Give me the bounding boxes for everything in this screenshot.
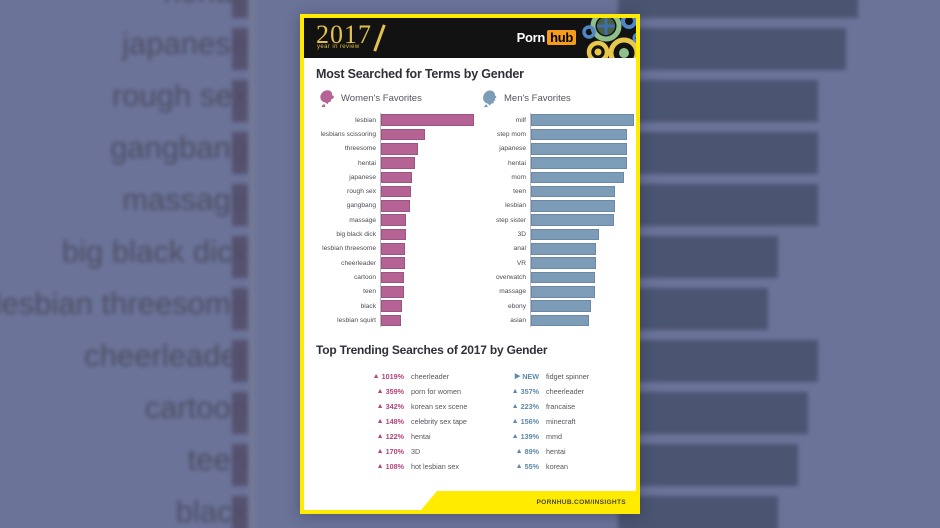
trending-term: fidget spinner — [546, 372, 589, 381]
background-bar-right — [618, 184, 818, 226]
trending-change: ▲170% — [356, 447, 404, 456]
up-triangle-icon: ▲ — [377, 418, 384, 425]
chart-bar-track — [531, 243, 634, 255]
chart-bar-label: gangbang — [318, 202, 380, 209]
chart-bar-label: lesbians scissoring — [318, 131, 380, 138]
chart-bar-label: anal — [484, 245, 530, 252]
chart-bar-track — [531, 257, 634, 269]
chart-bar-track — [381, 214, 474, 226]
chart-bar-label: japanese — [484, 145, 530, 152]
background-bar-label: cheerleader — [84, 338, 248, 374]
up-triangle-icon: ▲ — [512, 418, 519, 425]
background-bar-right — [618, 288, 768, 330]
trending-term: cheerleader — [411, 372, 449, 381]
chart-bar — [531, 272, 595, 284]
chart-bar — [381, 229, 406, 241]
chart-bar — [531, 257, 596, 269]
background-bar-label: gangbang — [110, 130, 248, 166]
chart-bar-label: rough sex — [318, 188, 380, 195]
trending-change-value: 342% — [386, 402, 404, 411]
chart-bar-label: lesbian squirt — [318, 317, 380, 324]
chart-bar-track — [381, 286, 474, 298]
background-bar-left — [232, 392, 248, 434]
legend-item-women: Women's Favorites — [318, 89, 481, 108]
woman-head-icon — [318, 89, 335, 108]
trending-term: celebrity sex tape — [411, 417, 467, 426]
chart-bar-track — [381, 272, 474, 284]
trending-term: 3D — [411, 447, 420, 456]
chart-bar-label: ebony — [484, 303, 530, 310]
background-bar-right — [618, 236, 778, 278]
chart-bar — [381, 315, 401, 327]
chart-bar — [531, 214, 614, 226]
up-triangle-icon: ▲ — [516, 463, 523, 470]
chart-bar-label: milf — [484, 117, 530, 124]
chart-bar-track — [531, 143, 634, 155]
background-bar-right — [618, 28, 846, 70]
chart-bar-row: milf — [484, 113, 634, 127]
background-bar-right — [618, 132, 818, 174]
chart-bar-row: rough sex — [318, 184, 474, 198]
chart-mens-favorites: milfstep momjapanesehentaimomteenlesbian… — [484, 113, 634, 327]
chart-bar-row: lesbians scissoring — [318, 127, 474, 141]
trending-change: ▲1019% — [356, 372, 404, 381]
trending-section-title: Top Trending Searches of 2017 by Gender — [316, 343, 636, 357]
chart-bar-label: lesbian threesome — [318, 245, 380, 252]
chart-bar-label: mom — [484, 174, 530, 181]
chart-bar-label: teen — [484, 188, 530, 195]
background-bar-left — [232, 80, 248, 122]
up-triangle-icon: ▲ — [377, 403, 384, 410]
chart-bar-label: japanese — [318, 174, 380, 181]
chart-bar — [531, 315, 589, 327]
background-bar-left — [232, 184, 248, 226]
chart-bar-track — [381, 200, 474, 212]
chart-bar-label: asian — [484, 317, 530, 324]
chart-bar-row: step sister — [484, 213, 634, 227]
trending-row: ▲148%celebrity sex tape — [356, 414, 491, 429]
chart-bar-row: threesome — [318, 142, 474, 156]
trending-change-value: NEW — [522, 372, 539, 381]
infographic-card: 2017 year in review Porn hub Most Search… — [300, 14, 640, 514]
trending-row: ▲139%mmd — [491, 429, 626, 444]
trending-change-value: 108% — [386, 462, 404, 471]
chart-womens-favorites: lesbianlesbians scissoringthreesomehenta… — [318, 113, 474, 327]
up-triangle-icon: ▲ — [512, 433, 519, 440]
chart-bar-label: VR — [484, 260, 530, 267]
trending-change-value: 1019% — [382, 372, 404, 381]
background-bar-right — [618, 444, 798, 486]
chart-bar-row: VR — [484, 256, 634, 270]
chart-bar — [381, 214, 406, 226]
trending-change-value: 357% — [521, 387, 539, 396]
chart-bar-track — [381, 229, 474, 241]
background-bar-right — [618, 340, 818, 382]
trending-change-value: 223% — [521, 402, 539, 411]
chart-section-title: Most Searched for Terms by Gender — [316, 67, 636, 81]
trending-row: ▲342%korean sex scene — [356, 399, 491, 414]
up-triangle-icon: ▲ — [377, 388, 384, 395]
chart-bar-row: lesbian — [318, 113, 474, 127]
chart-bar-label: hentai — [318, 160, 380, 167]
up-triangle-icon: ▲ — [373, 373, 380, 380]
trending-term: hentai — [411, 432, 431, 441]
trending-change: ▲108% — [356, 462, 404, 471]
chart-bar — [531, 114, 634, 126]
chart-bar-track — [381, 243, 474, 255]
chart-bar-label: step sister — [484, 217, 530, 224]
brand-word-porn: Porn — [517, 30, 545, 45]
man-head-icon — [481, 89, 498, 108]
trending-term: minecraft — [546, 417, 576, 426]
background-bar-label: rough sex — [112, 78, 248, 114]
chart-bar-track — [381, 143, 474, 155]
chart-bar — [531, 157, 627, 169]
pornhub-logo: Porn hub — [517, 30, 576, 45]
background-bar-left — [232, 496, 248, 528]
chart-bar-label: overwatch — [484, 274, 530, 281]
background-bar-left — [232, 340, 248, 382]
trending-row: ▲359%porn for women — [356, 384, 491, 399]
chart-bar-row: lesbian squirt — [318, 313, 474, 327]
trending-change-value: 156% — [521, 417, 539, 426]
trending-term: hot lesbian sex — [411, 462, 459, 471]
chart-bar-track — [531, 157, 634, 169]
chart-bar — [531, 172, 624, 184]
chart-bar — [381, 300, 402, 312]
trending-row: ▶NEWfidget spinner — [491, 369, 626, 384]
trending-row: ▲1019%cheerleader — [356, 369, 491, 384]
background-bar-left — [232, 288, 248, 330]
trending-change: ▲342% — [356, 402, 404, 411]
chart-bar-track — [381, 300, 474, 312]
trending-row: ▲170%3D — [356, 444, 491, 459]
chart-bar-row: gangbang — [318, 199, 474, 213]
chart-bar — [381, 157, 415, 169]
background-bar-right — [618, 0, 858, 18]
card-header: 2017 year in review Porn hub — [304, 18, 636, 58]
logo-slash-decoration — [373, 24, 385, 51]
chart-bar — [531, 129, 627, 141]
trending-term: cheerleader — [546, 387, 584, 396]
chart-bar-track — [531, 200, 634, 212]
chart-bar — [381, 186, 411, 198]
trending-list-men: ▶NEWfidget spinner▲357%cheerleader▲223%f… — [491, 369, 626, 474]
chart-bar — [531, 143, 627, 155]
background-bar-left — [232, 0, 248, 18]
trending-change-value: 359% — [386, 387, 404, 396]
card-footer: PORNHUB.COM/INSIGHTS — [304, 490, 636, 510]
chart-bar — [531, 300, 591, 312]
chart-bar — [531, 186, 615, 198]
chart-bar — [531, 243, 596, 255]
background-bar-label: japanese — [122, 26, 248, 62]
trending-row: ▲223%francaise — [491, 399, 626, 414]
chart-bar-row: lesbian threesome — [318, 242, 474, 256]
chart-bar-row: teen — [484, 184, 634, 198]
chart-bar — [381, 129, 425, 141]
chart-bar-track — [531, 114, 634, 126]
trending-change: ▲55% — [491, 462, 539, 471]
chart-bar — [381, 272, 404, 284]
chart-bar — [381, 243, 405, 255]
background-bar-left — [232, 236, 248, 278]
trending-change: ▲122% — [356, 432, 404, 441]
chart-bar-row: big black dick — [318, 227, 474, 241]
trending-change: ▲89% — [491, 447, 539, 456]
chart-bar-row: 3D — [484, 227, 634, 241]
chart-bar — [381, 114, 474, 126]
chart-bar-track — [531, 214, 634, 226]
chart-bar-row: teen — [318, 285, 474, 299]
footer-url: PORNHUB.COM/INSIGHTS — [536, 499, 626, 506]
trending-list-women: ▲1019%cheerleader▲359%porn for women▲342… — [356, 369, 491, 474]
chart-bar-row: cheerleader — [318, 256, 474, 270]
up-triangle-icon: ▲ — [516, 448, 523, 455]
chart-bar-label: massage — [484, 288, 530, 295]
chart-bar-track — [381, 157, 474, 169]
chart-bar-label: lesbian — [318, 117, 380, 124]
chart-bar — [381, 172, 412, 184]
trending-change: ▲156% — [491, 417, 539, 426]
trending-change: ▲359% — [356, 387, 404, 396]
chart-bar — [381, 257, 405, 269]
chart-bar — [531, 200, 615, 212]
trending-change-value: 89% — [525, 447, 539, 456]
chart-bar-row: massage — [318, 213, 474, 227]
chart-bar — [531, 229, 599, 241]
trending-term: korean sex scene — [411, 402, 467, 411]
trending-change-value: 139% — [521, 432, 539, 441]
chart-bar-label: 3D — [484, 231, 530, 238]
chart-bar-label: cartoon — [318, 274, 380, 281]
chart-bar-row: hentai — [318, 156, 474, 170]
trending-change-value: 170% — [386, 447, 404, 456]
chart-bar-track — [531, 300, 634, 312]
trending-term: mmd — [546, 432, 562, 441]
background-bar-left — [232, 132, 248, 174]
chart-bar-row: mom — [484, 170, 634, 184]
decorative-circles — [572, 18, 636, 58]
trending-row: ▲55%korean — [491, 459, 626, 474]
trending-change: ▲357% — [491, 387, 539, 396]
trending-row: ▲156%minecraft — [491, 414, 626, 429]
background-bar-left — [232, 28, 248, 70]
chart-bar-label: threesome — [318, 145, 380, 152]
legend-item-men: Men's Favorites — [481, 89, 571, 108]
chart-bar-track — [381, 114, 474, 126]
up-triangle-icon: ▲ — [512, 403, 519, 410]
chart-bar-track — [531, 272, 634, 284]
chart-bar — [381, 286, 404, 298]
chart-bar-track — [531, 172, 634, 184]
trending-row: ▲108%hot lesbian sex — [356, 459, 491, 474]
chart-bar-track — [381, 186, 474, 198]
charts-container: lesbianlesbians scissoringthreesomehenta… — [304, 113, 636, 341]
chart-bar-row: lesbian — [484, 199, 634, 213]
chart-bar — [381, 200, 410, 212]
chart-bar-row: overwatch — [484, 270, 634, 284]
year-in-review-label: year in review — [317, 44, 360, 50]
background-bar-right — [618, 392, 808, 434]
chart-bar-label: teen — [318, 288, 380, 295]
chart-bar-label: step mom — [484, 131, 530, 138]
chart-bar-label: black — [318, 303, 380, 310]
chart-bar-label: lesbian — [484, 202, 530, 209]
play-arrow-icon: ▶ — [515, 373, 520, 380]
chart-bar — [381, 143, 418, 155]
background-bar-left — [232, 444, 248, 486]
chart-bar-label: massage — [318, 217, 380, 224]
up-triangle-icon: ▲ — [512, 388, 519, 395]
background-bar-right — [618, 496, 778, 528]
background-bar-label: massage — [122, 182, 248, 218]
chart-bar-row: hentai — [484, 156, 634, 170]
chart-bar-label: big black dick — [318, 231, 380, 238]
chart-bar-track — [531, 129, 634, 141]
trending-change: ▲223% — [491, 402, 539, 411]
background-bar-right — [618, 80, 818, 122]
trending-row: ▲122%hentai — [356, 429, 491, 444]
trending-term: hentai — [546, 447, 566, 456]
chart-bar-row: cartoon — [318, 270, 474, 284]
trending-row: ▲89%hentai — [491, 444, 626, 459]
chart-bar-row: ebony — [484, 299, 634, 313]
chart-bar — [531, 286, 595, 298]
chart-bar-label: hentai — [484, 160, 530, 167]
chart-bar-track — [381, 315, 474, 327]
chart-bar-row: anal — [484, 242, 634, 256]
chart-bar-row: asian — [484, 313, 634, 327]
trending-term: francaise — [546, 402, 575, 411]
trending-term: korean — [546, 462, 568, 471]
trending-change-value: 122% — [386, 432, 404, 441]
chart-bar-row: japanese — [484, 142, 634, 156]
trending-change-value: 55% — [525, 462, 539, 471]
chart-bar-track — [531, 286, 634, 298]
legend-label-men: Men's Favorites — [504, 93, 571, 104]
trending-change: ▶NEW — [491, 372, 539, 381]
trending-change-value: 148% — [386, 417, 404, 426]
up-triangle-icon: ▲ — [377, 448, 384, 455]
up-triangle-icon: ▲ — [377, 433, 384, 440]
chart-bar-track — [381, 257, 474, 269]
chart-bar-track — [531, 229, 634, 241]
chart-bar-row: japanese — [318, 170, 474, 184]
chart-bar-label: cheerleader — [318, 260, 380, 267]
chart-bar-row: black — [318, 299, 474, 313]
background-bar-label: lesbian threesome — [0, 286, 248, 322]
gender-legend: Women's Favorites Men's Favorites — [318, 89, 636, 108]
legend-label-women: Women's Favorites — [341, 93, 422, 104]
up-triangle-icon: ▲ — [377, 463, 384, 470]
chart-bar-track — [531, 186, 634, 198]
trending-columns: ▲1019%cheerleader▲359%porn for women▲342… — [356, 369, 636, 474]
trending-change: ▲139% — [491, 432, 539, 441]
chart-bar-row: step mom — [484, 127, 634, 141]
trending-term: porn for women — [411, 387, 461, 396]
chart-bar-row: massage — [484, 285, 634, 299]
chart-bar-track — [381, 172, 474, 184]
background-bar-label: big black dick — [62, 234, 248, 270]
trending-change: ▲148% — [356, 417, 404, 426]
chart-bar-track — [531, 315, 634, 327]
chart-bar-track — [381, 129, 474, 141]
trending-row: ▲357%cheerleader — [491, 384, 626, 399]
